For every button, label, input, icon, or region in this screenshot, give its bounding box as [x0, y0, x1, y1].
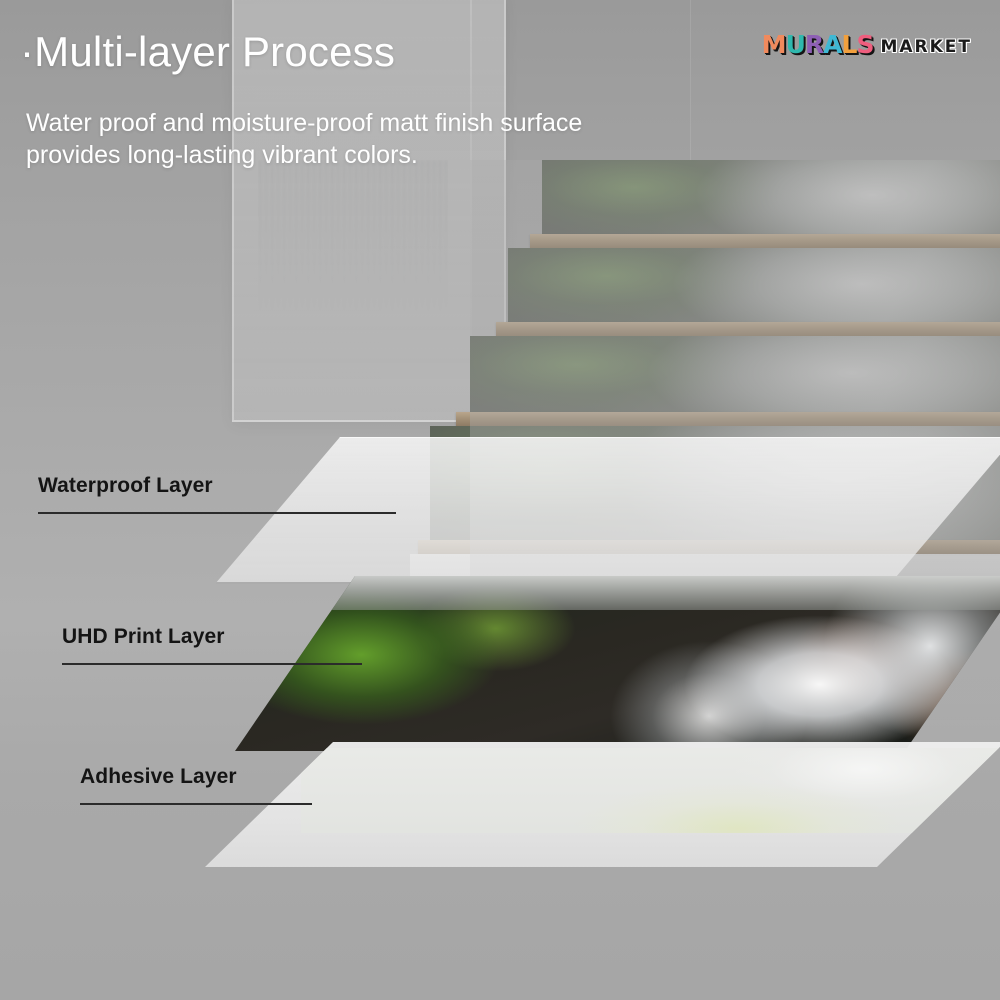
uhd-print-layer-caption: UHD Print Layer [62, 625, 362, 665]
promo-graphic: ·Multi-layer Process Water proof and moi… [0, 0, 1000, 1000]
caption-rule [62, 663, 362, 665]
waterproof-layer-label: Waterproof Layer [38, 474, 396, 498]
subtitle-line-1: Water proof and moisture-proof matt fini… [26, 107, 806, 139]
adhesive-layer-inner-panel [301, 748, 1000, 833]
brand-logo-letter-0: M [762, 32, 786, 57]
brand-logo-letter-2: R [805, 32, 823, 57]
brand-logo-letter-1: U [786, 32, 805, 57]
page-title: ·Multi-layer Process [20, 28, 395, 76]
page-subtitle: Water proof and moisture-proof matt fini… [26, 107, 806, 171]
subtitle-line-2: provides long-lasting vibrant colors. [26, 139, 806, 171]
adhesive-layer-label: Adhesive Layer [80, 765, 312, 789]
brand-logo-murals: MURALS [762, 32, 874, 57]
brand-logo: MURALS MARKET [762, 32, 972, 57]
brand-logo-letter-5: S [856, 32, 873, 57]
brand-logo-letter-4: L [842, 32, 857, 57]
uhd-print-layer-label: UHD Print Layer [62, 625, 362, 649]
brand-logo-market: MARKET [880, 39, 972, 57]
waterproof-layer-caption: Waterproof Layer [38, 474, 396, 514]
caption-rule [38, 512, 396, 514]
adhesive-layer-sheet [205, 742, 1000, 867]
artwork-print [258, 160, 448, 320]
brand-logo-letter-3: A [823, 32, 841, 57]
adhesive-layer-caption: Adhesive Layer [80, 765, 312, 805]
caption-rule [80, 803, 312, 805]
